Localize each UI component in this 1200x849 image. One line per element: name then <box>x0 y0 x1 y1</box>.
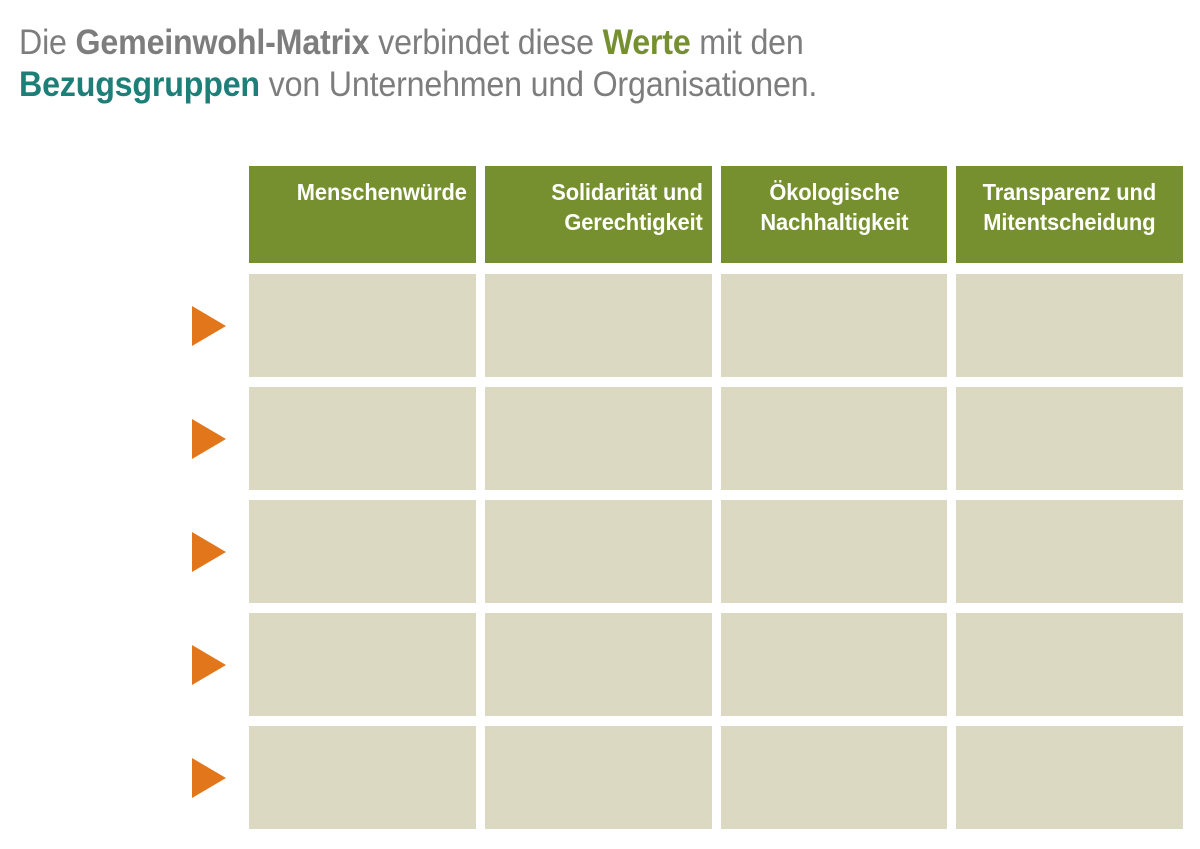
matrix-cell[interactable] <box>485 387 712 490</box>
column-header-label: Menschenwürde <box>268 177 466 207</box>
matrix-row <box>0 500 1200 603</box>
column-header-transparenz-und-mitentscheidung[interactable]: Transparenz und Mitentscheidung <box>956 166 1183 263</box>
matrix-cell[interactable] <box>721 500 948 603</box>
matrix-cell[interactable] <box>956 726 1183 829</box>
matrix-cell[interactable] <box>485 726 712 829</box>
title-part-bezugsgruppen: Bezugsgruppen <box>19 65 260 104</box>
page-title: Die Gemeinwohl-Matrix verbindet diese We… <box>19 22 1086 106</box>
column-header-menschenwuerde[interactable]: Menschenwürde <box>249 166 476 263</box>
matrix-row <box>0 387 1200 490</box>
matrix-cell[interactable] <box>249 726 476 829</box>
matrix-row <box>0 613 1200 716</box>
matrix-cell[interactable] <box>721 387 948 490</box>
matrix-cell[interactable] <box>249 500 476 603</box>
matrix-cell[interactable] <box>249 274 476 377</box>
column-header-oekologische-nachhaltigkeit[interactable]: Ökologische Nachhaltigkeit <box>721 166 948 263</box>
matrix-cell[interactable] <box>956 500 1183 603</box>
triangle-right-icon <box>192 306 226 346</box>
triangle-right-icon <box>192 645 226 685</box>
matrix-cell[interactable] <box>956 613 1183 716</box>
gemeinwohl-matrix: Menschenwürde Solidarität und Gerechtigk… <box>0 166 1200 829</box>
title-part-mit-den: mit den <box>691 23 804 62</box>
column-header-label: Solidarität und Gerechtigkeit <box>504 177 702 237</box>
title-part-die: Die <box>19 23 76 62</box>
title-part-gemeinwohl-matrix: Gemeinwohl-Matrix <box>76 23 370 62</box>
matrix-cell[interactable] <box>956 274 1183 377</box>
triangle-right-icon <box>192 532 226 572</box>
matrix-cell[interactable] <box>249 613 476 716</box>
matrix-cell[interactable] <box>485 500 712 603</box>
matrix-cell[interactable] <box>721 274 948 377</box>
column-header-solidaritaet-und-gerechtigkeit[interactable]: Solidarität und Gerechtigkeit <box>485 166 712 263</box>
column-header-label: Ökologische Nachhaltigkeit <box>735 177 933 237</box>
matrix-cell[interactable] <box>721 613 948 716</box>
matrix-cell[interactable] <box>249 387 476 490</box>
matrix-row <box>0 726 1200 829</box>
title-part-verbindet-diese: verbindet diese <box>369 23 602 62</box>
page-title-line-1: Die Gemeinwohl-Matrix verbindet diese We… <box>19 22 1086 64</box>
matrix-row <box>0 274 1200 377</box>
column-header-label: Transparenz und Mitentscheidung <box>970 177 1168 237</box>
triangle-right-icon <box>192 419 226 459</box>
matrix-cell[interactable] <box>956 387 1183 490</box>
page-title-line-2: Bezugsgruppen von Unternehmen und Organi… <box>19 64 1086 106</box>
matrix-header-row: Menschenwürde Solidarität und Gerechtigk… <box>0 166 1200 263</box>
triangle-right-icon <box>192 758 226 798</box>
matrix-cell[interactable] <box>485 613 712 716</box>
matrix-cell[interactable] <box>721 726 948 829</box>
title-part-von-unternehmen: von Unternehmen und Organisationen. <box>260 65 817 104</box>
matrix-cell[interactable] <box>485 274 712 377</box>
title-part-werte: Werte <box>603 23 691 62</box>
